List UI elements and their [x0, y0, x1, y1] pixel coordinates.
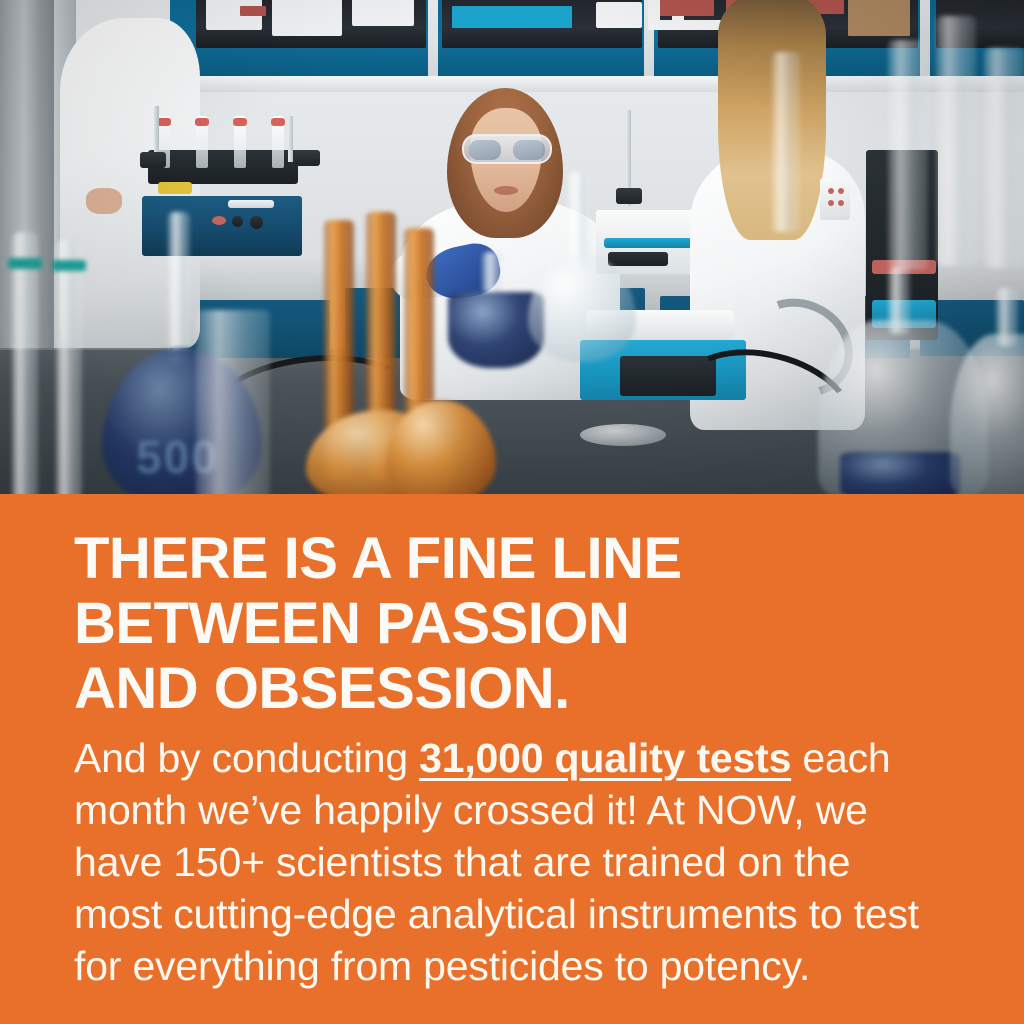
erlenmeyer-right-2 — [950, 288, 1024, 494]
pipette-teal-band-1 — [8, 258, 42, 269]
graduated-cylinder-3 — [984, 48, 1024, 268]
page-title: THERE IS A FINE LINE BETWEEN PASSION AND… — [74, 526, 974, 721]
foreground-glassware-group: 500 — [0, 0, 1024, 494]
pipette-teal-band-2 — [52, 260, 86, 271]
reagent-bottle-left — [196, 310, 270, 494]
lab-photo: 500 — [0, 0, 1024, 494]
headline-line-2: BETWEEN PASSION — [74, 591, 974, 656]
glass-flask-center-bulb — [528, 254, 636, 362]
erlenmeyer-right-1-liquid — [840, 452, 960, 494]
erlenmeyer-center-neck — [482, 252, 504, 294]
headline-line-3: AND OBSESSION. — [74, 656, 974, 721]
poster-root: 500 — [0, 0, 1024, 1024]
graduated-cylinder-4 — [772, 52, 800, 232]
pipette-left-2 — [56, 240, 82, 494]
flask-neck-500 — [168, 212, 190, 362]
body-prefix: And by conducting — [74, 735, 419, 781]
body-copy: And by conducting 31,000 quality tests e… — [74, 732, 936, 992]
graduated-cylinder-1 — [888, 40, 928, 270]
glass-flask-center — [528, 172, 638, 368]
graduated-cylinder-2 — [936, 16, 976, 266]
headline-line-1: THERE IS A FINE LINE — [74, 526, 974, 591]
quality-tests-emphasis: 31,000 quality tests — [419, 735, 791, 781]
pipette-left-1 — [12, 232, 38, 494]
orange-message-panel: THERE IS A FINE LINE BETWEEN PASSION AND… — [0, 494, 1024, 1024]
erlenmeyer-right-2-bulb — [950, 334, 1024, 494]
